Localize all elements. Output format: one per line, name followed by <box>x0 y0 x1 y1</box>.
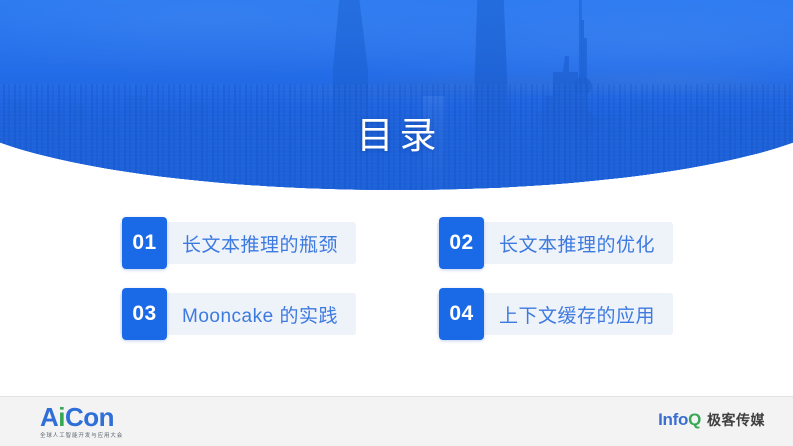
toc-item-02[interactable]: 02 长文本推理的优化 <box>437 222 673 264</box>
infoq-wordmark: InfoQ <box>658 411 701 428</box>
toc-item-04[interactable]: 04 上下文缓存的应用 <box>437 293 673 335</box>
slide-root: 目录 01 长文本推理的瓶颈 02 长文本推理的优化 03 Mooncake 的… <box>0 0 793 446</box>
toc-number-badge: 03 <box>122 288 167 340</box>
aicon-tagline: 全球人工智能开发与应用大会 <box>40 434 220 440</box>
toc-item-01[interactable]: 01 长文本推理的瓶颈 <box>120 222 356 264</box>
hero-curved-mask <box>0 0 793 190</box>
aicon-logo: AiCon 全球人工智能开发与应用大会 <box>40 404 220 440</box>
blue-color-overlay <box>0 0 793 190</box>
aicon-letter-a: A <box>40 402 58 432</box>
toc-item-label: 长文本推理的优化 <box>499 230 655 257</box>
infoq-letter-q-green: Q <box>688 410 701 429</box>
infoq-letters-info: Info <box>658 410 688 429</box>
page-title: 目录 <box>0 118 793 155</box>
toc-number-badge: 04 <box>439 288 484 340</box>
toc-item-label: Mooncake 的实践 <box>182 301 338 328</box>
toc-item-label: 长文本推理的瓶颈 <box>182 230 338 257</box>
aicon-letter-i-green: i <box>58 402 65 432</box>
cityscape-photo <box>0 0 793 190</box>
toc-number-badge: 01 <box>122 217 167 269</box>
hero-banner: 目录 <box>0 0 793 190</box>
toc-list: 01 长文本推理的瓶颈 02 长文本推理的优化 03 Mooncake 的实践 … <box>120 222 673 335</box>
toc-item-label: 上下文缓存的应用 <box>499 301 655 328</box>
infoq-chinese-name: 极客传媒 <box>707 413 765 427</box>
toc-number-badge: 02 <box>439 217 484 269</box>
toc-item-03[interactable]: 03 Mooncake 的实践 <box>120 293 356 335</box>
infoq-logo: InfoQ 极客传媒 <box>658 411 765 428</box>
aicon-wordmark: AiCon <box>40 404 114 430</box>
footer-bar: AiCon 全球人工智能开发与应用大会 InfoQ 极客传媒 <box>0 397 793 446</box>
aicon-letters-con: Con <box>65 402 114 432</box>
